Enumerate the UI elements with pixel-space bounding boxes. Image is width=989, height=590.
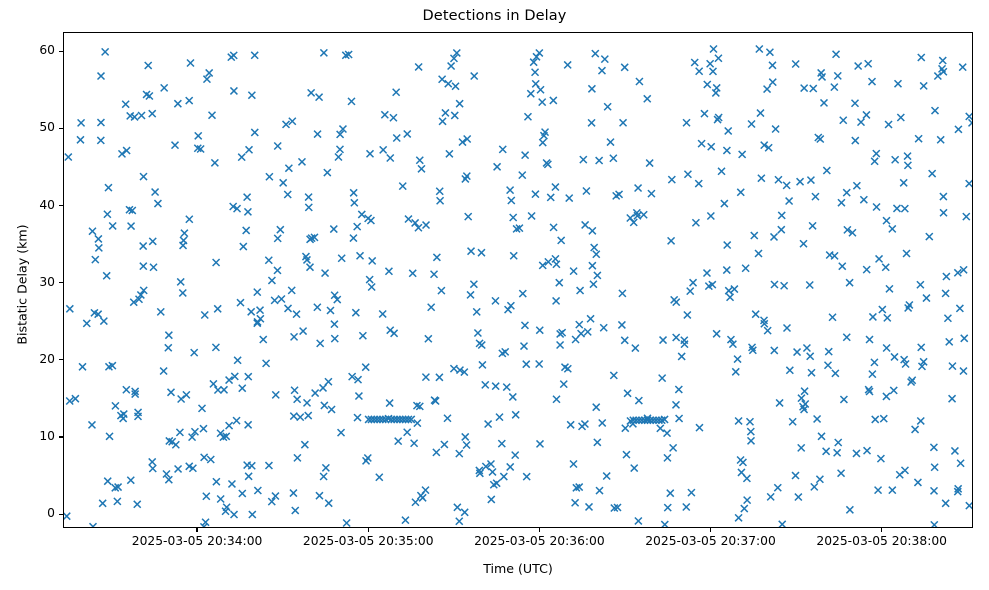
x-tick-mark xyxy=(196,528,197,532)
y-axis-label: Bistatic Delay (km) xyxy=(15,135,30,435)
y-tick-label: 30 xyxy=(39,275,55,289)
x-tick-label: 2025-03-05 20:36:00 xyxy=(464,534,614,548)
y-tick-label: 10 xyxy=(39,429,55,443)
y-tick-label: 0 xyxy=(47,506,55,520)
x-tick-mark xyxy=(368,528,369,532)
x-axis: 2025-03-05 20:34:002025-03-05 20:35:0020… xyxy=(63,528,973,558)
x-tick-mark xyxy=(710,528,711,532)
plot-area xyxy=(63,32,973,528)
y-tick-label: 50 xyxy=(39,120,55,134)
y-axis: Bistatic Delay (km) 0102030405060 xyxy=(0,32,63,528)
x-tick-label: 2025-03-05 20:34:00 xyxy=(122,534,272,548)
chart-figure: Detections in Delay Bistatic Delay (km) … xyxy=(0,0,989,590)
y-tick-label: 60 xyxy=(39,43,55,57)
x-tick-label: 2025-03-05 20:37:00 xyxy=(636,534,786,548)
chart-title: Detections in Delay xyxy=(0,8,989,24)
scatter-markers xyxy=(64,33,972,527)
x-tick-mark xyxy=(539,528,540,532)
y-tick-label: 20 xyxy=(39,352,55,366)
y-tick-label: 40 xyxy=(39,198,55,212)
x-tick-label: 2025-03-05 20:35:00 xyxy=(293,534,443,548)
x-axis-label: Time (UTC) xyxy=(63,561,973,576)
x-tick-mark xyxy=(881,528,882,532)
x-tick-label: 2025-03-05 20:38:00 xyxy=(807,534,957,548)
